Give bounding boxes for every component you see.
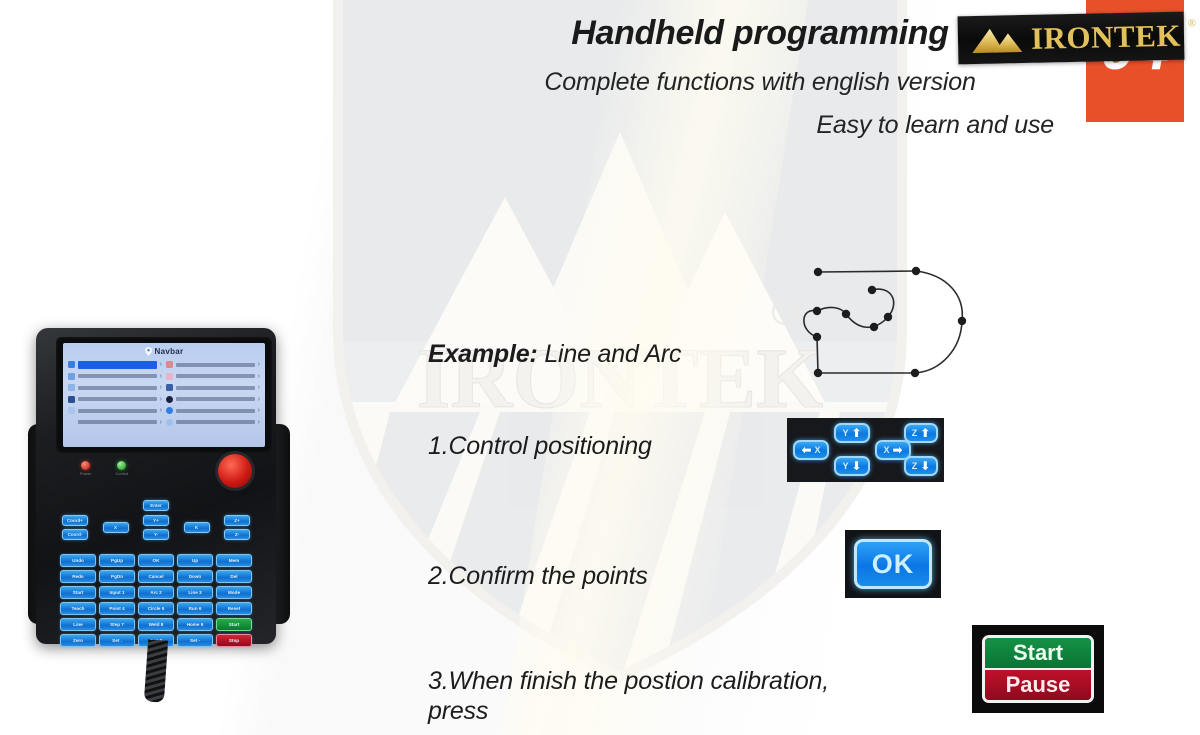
jog-z-minus-label: Z <box>912 461 918 471</box>
chevron-right-icon: › <box>258 407 260 414</box>
menu-icon <box>68 384 75 391</box>
key-pgup[interactable]: PgUp <box>99 554 135 567</box>
jog-z-plus-button[interactable]: Z ⬆ <box>904 423 938 443</box>
arrow-right-icon: ➡ <box>892 444 902 456</box>
key-circle-5[interactable]: Circle 5 <box>138 602 174 615</box>
pendant-body: Navbar › › › › › › › › <box>36 328 276 644</box>
pendant-indicator-lights: Power Control <box>80 461 128 476</box>
pendant-y-stack: Y+ Y- <box>143 515 169 540</box>
arrow-down-icon: ⬇ <box>851 460 861 472</box>
screen-title: Navbar <box>155 347 184 356</box>
key-cancel[interactable]: Cancel <box>138 570 174 583</box>
pendant-enter-button[interactable]: Enter <box>143 500 169 511</box>
key-start[interactable]: Start <box>216 618 252 631</box>
chevron-right-icon: › <box>160 373 162 380</box>
example-text: Example: Line and Arc <box>428 308 681 369</box>
example-value: Line and Arc <box>544 340 681 368</box>
jog-z-minus-button[interactable]: Z ⬇ <box>904 456 938 476</box>
list-item[interactable]: › <box>166 372 260 381</box>
logo-wordmark: IRONTEK <box>1031 18 1182 57</box>
key-stop[interactable]: Stop <box>216 634 252 647</box>
step-1-label: Control positioning <box>448 432 651 460</box>
key-arc-2[interactable]: Arc 2 <box>138 586 174 599</box>
jog-x-minus-label: X <box>815 445 821 455</box>
list-item[interactable]: › <box>68 360 162 369</box>
irontek-logo: IRONTEK ® <box>958 12 1185 65</box>
step-3-label: When finish the postion calibration, pre… <box>428 667 829 726</box>
emergency-stop-button[interactable] <box>218 454 252 488</box>
menu-icon <box>166 361 173 368</box>
jog-y-plus-label: Y <box>842 428 848 438</box>
key-zero[interactable]: Zero <box>60 634 96 647</box>
menu-icon <box>68 407 75 414</box>
pendant-k-button[interactable]: K <box>184 522 210 533</box>
menu-icon <box>166 384 173 391</box>
menu-icon <box>68 396 75 403</box>
chevron-right-icon: › <box>258 396 260 403</box>
screen-title-bar: Navbar <box>63 347 265 356</box>
pendant-coord-stack: Coord+ Coord- <box>62 515 88 540</box>
pendant-screen: Navbar › › › › › › › › <box>63 343 265 447</box>
arrow-left-icon: ⬅ <box>801 444 811 456</box>
pendant-jog-row: Coord+ Coord- X Y+ Y- K Z+ Z- <box>62 515 250 540</box>
key-line-3[interactable]: Line 3 <box>177 586 213 599</box>
step-1-number: 1. <box>428 432 448 460</box>
jog-z-plus-label: Z <box>912 428 918 438</box>
list-item[interactable]: › <box>166 418 260 427</box>
pendant-enter-row: Enter <box>62 500 250 511</box>
list-item[interactable]: › <box>166 395 260 404</box>
start-button[interactable]: Start <box>985 638 1091 670</box>
chevron-right-icon: › <box>258 361 260 368</box>
jog-y-minus-button[interactable]: Y ⬇ <box>834 456 870 476</box>
menu-icon <box>166 373 173 380</box>
jog-x-plus-label: X <box>883 445 889 455</box>
pendant-screen-bezel: Navbar › › › › › › › › <box>56 337 272 453</box>
power-indicator: Power <box>80 461 91 476</box>
arrow-up-icon: ⬆ <box>851 427 861 439</box>
step-1-text: 1.Control positioning <box>428 400 652 461</box>
line-and-arc-figure <box>795 255 995 385</box>
list-item[interactable]: › <box>166 406 260 415</box>
key-set-minus[interactable]: Set - <box>177 634 213 647</box>
jog-y-minus-label: Y <box>842 461 848 471</box>
key-start-alt[interactable]: Start <box>60 586 96 599</box>
ok-button[interactable]: OK <box>854 539 932 589</box>
pendant-jog-section: Enter Coord+ Coord- X Y+ Y- K Z+ Z- <box>62 500 250 540</box>
key-input-1[interactable]: Input 1 <box>99 586 135 599</box>
screen-menu-left: › › › › › › <box>68 360 162 427</box>
control-led-label: Control <box>115 471 128 476</box>
key-pgdn[interactable]: PgDn <box>99 570 135 583</box>
pendant-keypad-grid: Undo PgUp OK Up Mem Redo PgDn Cancel Dow… <box>60 554 252 647</box>
pendant-z-minus-button[interactable]: Z- <box>224 529 250 540</box>
pendant-y-minus-button[interactable]: Y- <box>143 529 169 540</box>
ok-button-panel: OK <box>845 530 941 598</box>
chevron-right-icon: › <box>258 419 260 426</box>
pendant-coord-plus-button[interactable]: Coord+ <box>62 515 88 526</box>
menu-icon <box>68 419 75 426</box>
menu-icon <box>166 419 173 426</box>
example-label: Example: <box>428 340 538 368</box>
key-teach[interactable]: Teach <box>60 602 96 615</box>
step-1-row: 1.Control positioning <box>428 400 652 461</box>
handheld-pendant-photo: Navbar › › › › › › › › <box>28 328 290 678</box>
key-undo[interactable]: Undo <box>60 554 96 567</box>
list-item[interactable]: › <box>68 372 162 381</box>
pause-button[interactable]: Pause <box>985 670 1091 700</box>
step-2-text: 2.Confirm the points <box>428 530 648 591</box>
chevron-right-icon: › <box>160 407 162 414</box>
step-3-number: 3. <box>428 667 448 695</box>
key-reset[interactable]: Reset <box>216 602 252 615</box>
key-down[interactable]: Down <box>177 570 213 583</box>
arrow-down-icon: ⬇ <box>920 460 930 472</box>
power-led-label: Power <box>80 471 91 476</box>
key-home-9[interactable]: Home 9 <box>177 618 213 631</box>
arrow-up-icon: ⬆ <box>920 427 930 439</box>
key-redo[interactable]: Redo <box>60 570 96 583</box>
step-3-row: 3.When finish the postion calibration, p… <box>428 635 958 727</box>
step-2-row: 2.Confirm the points <box>428 530 648 591</box>
key-line[interactable]: Line <box>60 618 96 631</box>
start-pause-panel: Start Pause <box>972 625 1104 713</box>
key-set-dot[interactable]: Set . <box>99 634 135 647</box>
key-point-4[interactable]: Point 4 <box>99 602 135 615</box>
location-pin-icon <box>145 347 152 356</box>
power-led-icon <box>81 461 90 470</box>
chevron-right-icon: › <box>258 384 260 391</box>
step-2-number: 2. <box>428 562 448 590</box>
screen-menu-right: › › › › › › <box>166 360 260 427</box>
pendant-x-button[interactable]: X <box>103 522 129 533</box>
control-indicator: Control <box>115 461 128 476</box>
key-step-7[interactable]: Step 7 <box>99 618 135 631</box>
key-mem[interactable]: Mem <box>216 554 252 567</box>
subtitle-line-2: Easy to learn and use <box>430 110 1090 141</box>
jog-y-plus-button[interactable]: Y ⬆ <box>834 423 870 443</box>
key-mode[interactable]: Mode <box>216 586 252 599</box>
pendant-y-plus-button[interactable]: Y+ <box>143 515 169 526</box>
list-item[interactable]: › <box>68 418 162 427</box>
key-ok[interactable]: OK <box>138 554 174 567</box>
control-led-icon <box>117 461 126 470</box>
menu-icon <box>68 361 75 368</box>
example-row: Example: Line and Arc <box>428 308 681 369</box>
key-up[interactable]: Up <box>177 554 213 567</box>
menu-icon <box>166 407 173 414</box>
step-2-label: Confirm the points <box>448 562 647 590</box>
pendant-z-stack: Z+ Z- <box>224 515 250 540</box>
key-weld-8[interactable]: Weld 8 <box>138 618 174 631</box>
jog-x-minus-button[interactable]: ⬅ X <box>793 440 829 460</box>
list-item[interactable]: › <box>68 383 162 392</box>
chevron-right-icon: › <box>160 361 162 368</box>
list-item[interactable]: › <box>68 395 162 404</box>
mountain-icon <box>970 24 1025 55</box>
menu-icon <box>68 373 75 380</box>
pendant-z-plus-button[interactable]: Z+ <box>224 515 250 526</box>
axis-jog-keypad-panel: ⬅ X Y ⬆ Y ⬇ X ➡ Z ⬆ Z ⬇ <box>787 418 944 482</box>
key-del[interactable]: Del <box>216 570 252 583</box>
step-3-text: 3.When finish the postion calibration, p… <box>428 635 958 727</box>
list-item[interactable]: › <box>166 383 260 392</box>
list-item[interactable]: › <box>68 406 162 415</box>
chevron-right-icon: › <box>160 384 162 391</box>
screen-menu-columns: › › › › › › › › › › › <box>63 356 265 427</box>
chevron-right-icon: › <box>160 419 162 426</box>
subtitle-line-1: Complete functions with english version <box>430 67 1090 98</box>
key-run-6[interactable]: Run 6 <box>177 602 213 615</box>
list-item[interactable]: › <box>166 360 260 369</box>
chevron-right-icon: › <box>160 396 162 403</box>
start-pause-switch: Start Pause <box>982 635 1094 703</box>
logo-registered-mark: ® <box>1188 17 1197 29</box>
slide-canvas: IRONTEK R 04 Handheld programming Comple… <box>0 0 1200 735</box>
pendant-coord-minus-button[interactable]: Coord- <box>62 529 88 540</box>
chevron-right-icon: › <box>258 373 260 380</box>
menu-icon <box>166 396 173 403</box>
